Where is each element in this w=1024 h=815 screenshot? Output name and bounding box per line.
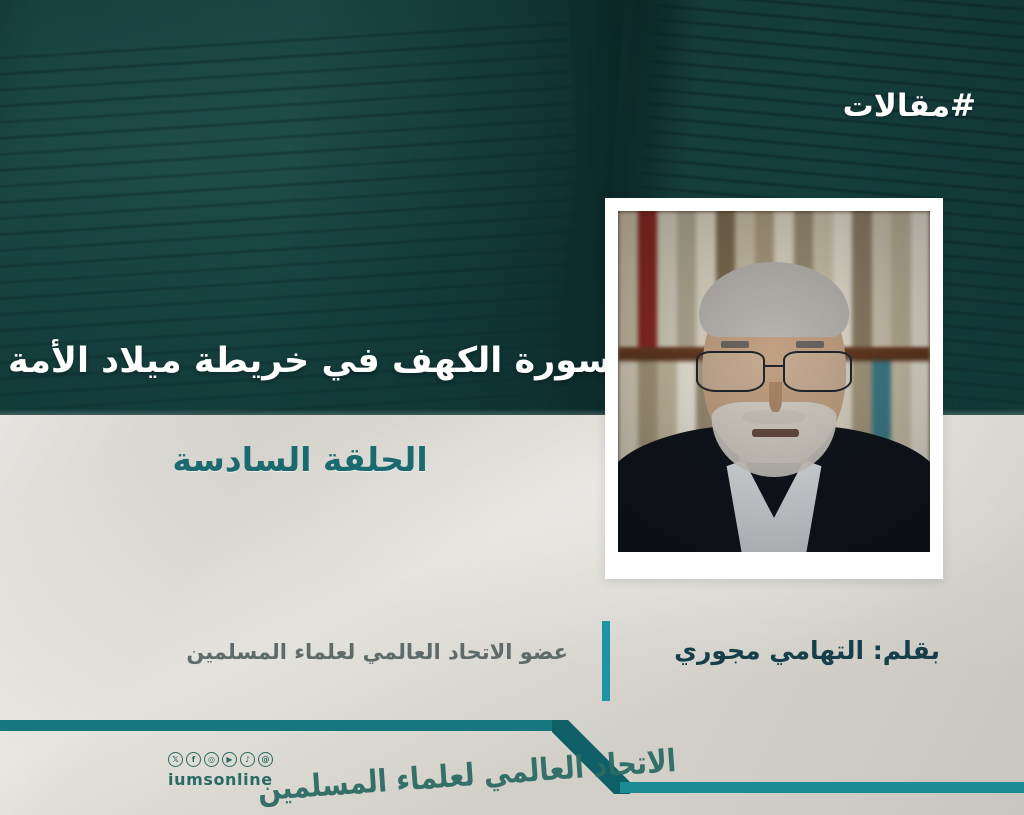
avatar [618,211,930,552]
category-hashtag: #مقالات [843,88,976,124]
facebook-icon[interactable]: f [186,752,201,767]
tiktok-icon[interactable]: ♪ [240,752,255,767]
decorative-rule-left [0,720,560,731]
author-role: عضو الاتحاد العالمي لعلماء المسلمين [186,640,568,664]
threads-icon[interactable]: @ [258,752,273,767]
youtube-icon[interactable]: ▶ [222,752,237,767]
decorative-rule-right [620,782,1024,793]
x-twitter-icon[interactable]: 𝕏 [168,752,183,767]
instagram-icon[interactable]: ◎ [204,752,219,767]
article-poster: #مقالات سورة الكهف في خريطة ميلاد الأمة … [0,0,1024,815]
author-photo-frame [605,198,943,579]
social-links-row[interactable]: 𝕏 f ◎ ▶ ♪ @ [168,752,273,767]
author-byline: بقلم: التهامي مجوري [674,636,940,665]
author-divider [602,621,610,701]
episode-subtitle: الحلقة السادسة [0,440,600,479]
page-title: سورة الكهف في خريطة ميلاد الأمة [8,341,612,381]
portrait-vignette [618,211,930,552]
